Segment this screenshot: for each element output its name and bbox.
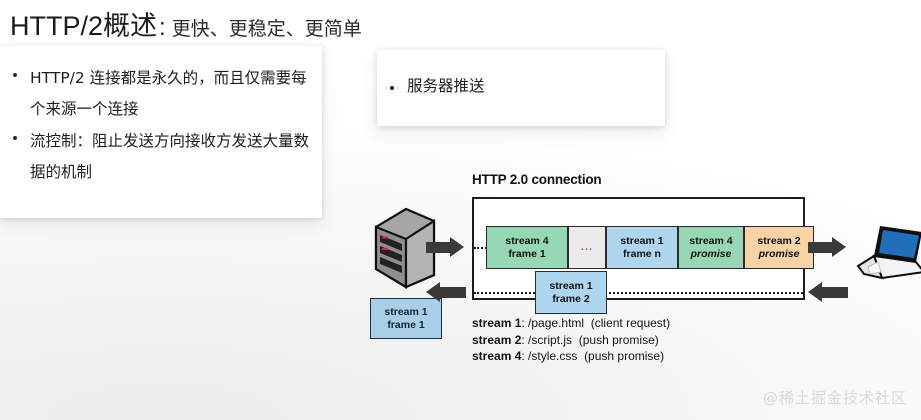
frame-row-bottom: stream 1 frame 2 <box>535 271 607 314</box>
frame-box: stream 2 promise <box>744 226 814 269</box>
arrow-right-icon <box>426 237 468 258</box>
arrow-left-icon <box>426 282 468 303</box>
list-item: HTTP/2 连接都是永久的，而且仅需要每个来源一个连接 <box>0 63 322 125</box>
page-title: HTTP/2概述 : 更快、更稳定、更简单 <box>10 4 362 43</box>
list-item: 服务器推送 <box>377 76 665 96</box>
right-content-card: 服务器推送 <box>377 50 665 126</box>
frame-box: stream 4 frame 1 <box>486 226 568 269</box>
legend-row: stream 1: /page.html (client request) <box>472 315 670 332</box>
arrow-left-icon <box>808 282 850 303</box>
frame-box: stream 1 frame n <box>606 226 678 269</box>
page-title-main: HTTP/2概述 <box>10 4 157 43</box>
watermark: @稀土掘金技术社区 <box>763 387 907 408</box>
http2-push-diagram: HTTP 2.0 connection stream 4 frame 1 ...… <box>360 160 921 400</box>
server-frame-box: stream 1 frame 1 <box>370 298 442 339</box>
legend-row: stream 4: /style.css (push promise) <box>472 348 670 365</box>
frame-row-top: stream 4 frame 1 ... stream 1 frame n st… <box>486 226 814 269</box>
frame-box: stream 1 frame 2 <box>535 271 607 314</box>
page-title-colon: : <box>159 14 166 42</box>
connection-title: HTTP 2.0 connection <box>472 172 601 187</box>
frame-box-ellipsis: ... <box>568 226 606 269</box>
right-bullet-list: 服务器推送 <box>377 50 665 96</box>
dotted-line-bottom <box>474 292 803 294</box>
frame-box: stream 4 promise <box>678 226 744 269</box>
left-bullet-list: HTTP/2 连接都是永久的，而且仅需要每个来源一个连接 流控制：阻止发送方向接… <box>0 46 322 188</box>
page-title-subtitle: 更快、更稳定、更简单 <box>172 14 362 41</box>
arrow-right-icon <box>808 237 850 258</box>
left-content-card: HTTP/2 连接都是永久的，而且仅需要每个来源一个连接 流控制：阻止发送方向接… <box>0 46 322 218</box>
list-item: 流控制：阻止发送方向接收方发送大量数据的机制 <box>0 126 322 188</box>
legend-row: stream 2: /script.js (push promise) <box>472 332 670 349</box>
diagram-legend: stream 1: /page.html (client request) st… <box>472 315 670 365</box>
laptop-icon <box>854 222 921 284</box>
